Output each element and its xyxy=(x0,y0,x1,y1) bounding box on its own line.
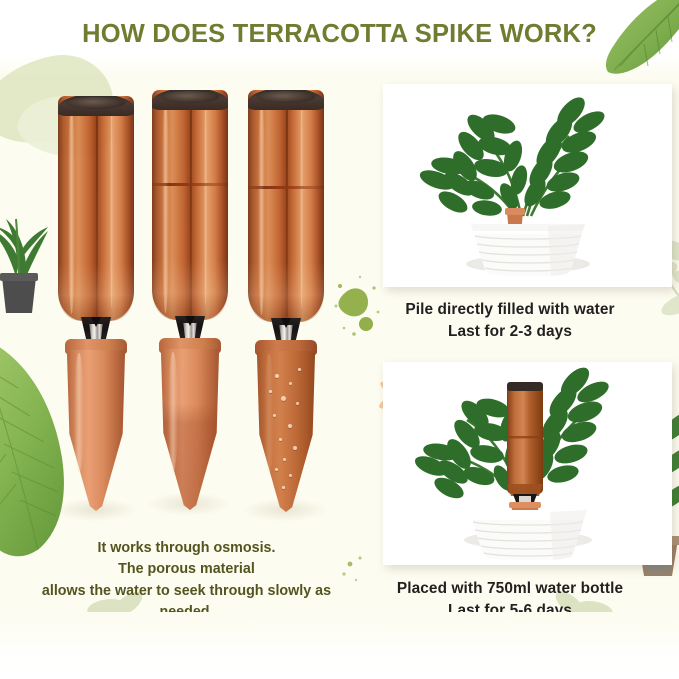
infographic-canvas: HOW DOES TERRACOTTA SPIKE WORK? xyxy=(0,0,679,679)
spike-absorbing-bottle xyxy=(152,90,228,320)
caption-line-2: Last for 2-3 days xyxy=(360,321,660,343)
card-pile-filled xyxy=(383,84,672,287)
spike-saturated xyxy=(248,90,324,500)
spike-saturated-water-level xyxy=(248,186,324,189)
inverted-bottle-spike xyxy=(507,382,543,528)
caption-line-1: Pile directly filled with water xyxy=(360,299,660,321)
spike-saturated-bottle xyxy=(248,90,324,322)
spike-dry-terracotta-cone xyxy=(65,339,127,511)
header-fade xyxy=(0,55,679,77)
photo-zz-plant-with-bottle-spike xyxy=(383,362,672,565)
spike-saturated-terracotta-cone xyxy=(255,340,317,512)
explanation-line-2: The porous material xyxy=(14,559,359,580)
spike-dry-cap xyxy=(58,96,134,116)
osmosis-explanation: It works through osmosis. The porous mat… xyxy=(14,538,359,624)
spike-absorbing-terracotta-cone xyxy=(159,338,221,510)
caption-line-1: Placed with 750ml water bottle xyxy=(360,578,660,600)
explanation-line-1: It works through osmosis. xyxy=(14,538,359,559)
spike-dry-bottle xyxy=(58,96,134,321)
bottom-fade xyxy=(0,612,679,679)
spike-absorbing-cap xyxy=(152,90,228,110)
photo-zz-plant-with-spike xyxy=(383,84,672,287)
spike-saturated-cap xyxy=(248,90,324,110)
spike-absorbing-water-level xyxy=(152,183,228,186)
spike-dry xyxy=(58,96,134,506)
caption-pile-filled: Pile directly filled with water Last for… xyxy=(360,299,660,343)
page-title: HOW DOES TERRACOTTA SPIKE WORK? xyxy=(0,20,679,49)
card-with-bottle xyxy=(383,362,672,565)
spike-absorbing xyxy=(152,90,228,500)
explanation-line-3: allows the water to seek through slowly … xyxy=(14,581,359,602)
